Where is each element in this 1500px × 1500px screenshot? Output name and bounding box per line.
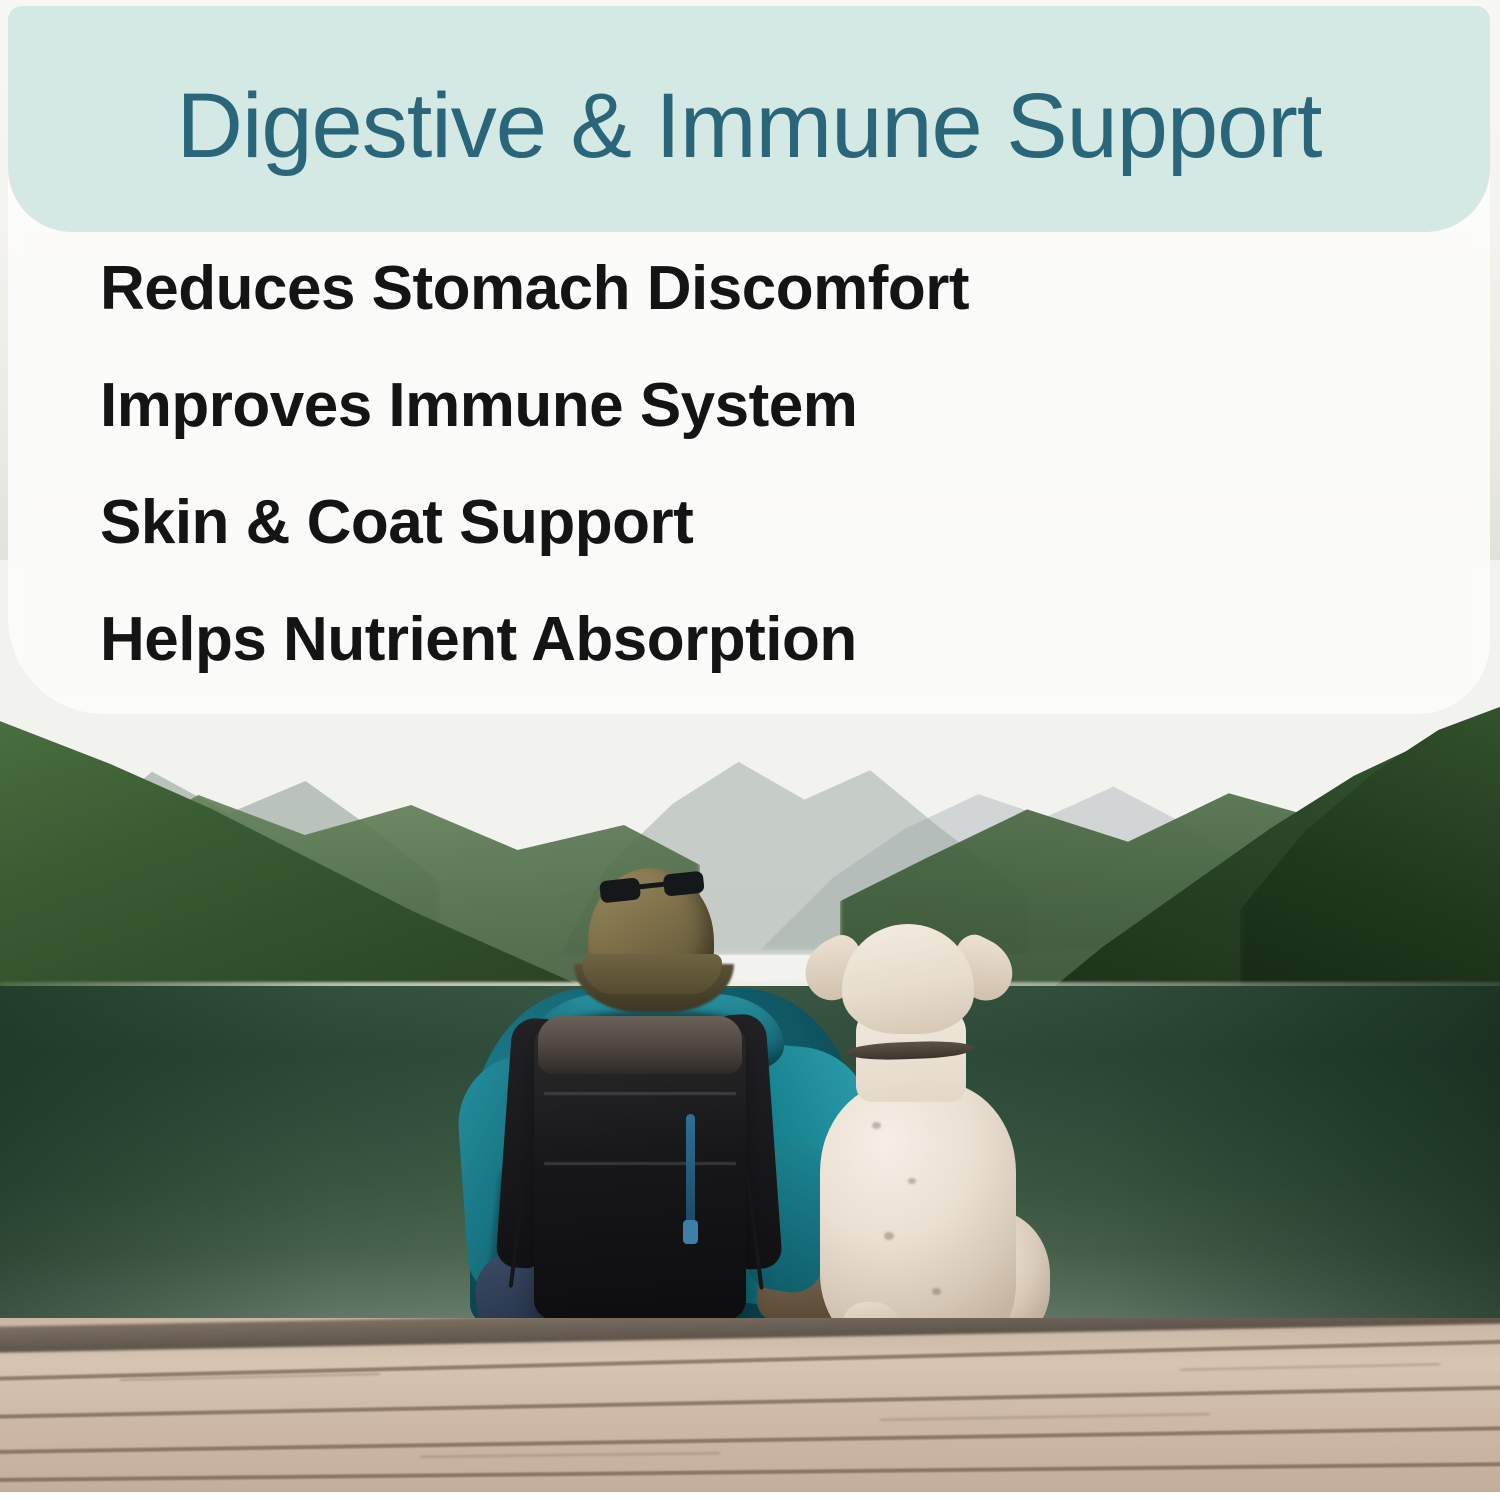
- dock-plank-seam-3: [0, 1425, 1500, 1455]
- backpack: [534, 1020, 746, 1320]
- bottom-white-strip: [0, 1492, 1500, 1500]
- backpack-zipper: [686, 1114, 695, 1224]
- benefits-list: Reduces Stomach Discomfort Improves Immu…: [100, 258, 1400, 671]
- header-band: Digestive & Immune Support: [8, 6, 1490, 232]
- benefit-item-2: Improves Immune System: [100, 375, 1400, 437]
- backpack-seam-1: [544, 1092, 736, 1095]
- wooden-dock: [0, 1318, 1500, 1492]
- backpack-zipper-pull: [683, 1220, 698, 1244]
- dog-head: [842, 924, 974, 1034]
- sunglasses-bridge: [638, 882, 666, 890]
- dog-spot-2: [908, 1178, 916, 1184]
- backpack-top-lid: [538, 1016, 742, 1074]
- benefit-item-1: Reduces Stomach Discomfort: [100, 258, 1400, 320]
- dock-grain-3: [420, 1452, 720, 1458]
- sunglasses-lens-right: [663, 871, 705, 897]
- beanie-brim: [582, 954, 722, 994]
- page-title: Digestive & Immune Support: [8, 80, 1490, 172]
- product-benefit-graphic: Digestive & Immune Support Reduces Stoma…: [0, 0, 1500, 1500]
- dock-plank-seam-4: [0, 1461, 1500, 1483]
- sunglasses-lens-left: [599, 877, 641, 903]
- dock-grain-4: [1180, 1363, 1440, 1370]
- dog-spot-4: [932, 1288, 941, 1295]
- backpack-seam-2: [544, 1162, 736, 1165]
- benefit-item-3: Skin & Coat Support: [100, 492, 1400, 554]
- dog-spot-1: [872, 1122, 881, 1129]
- dock-plank-seam-2: [0, 1384, 1500, 1420]
- dog-spot-3: [884, 1232, 894, 1240]
- benefit-item-4: Helps Nutrient Absorption: [100, 609, 1400, 671]
- dock-grain-2: [880, 1413, 1210, 1421]
